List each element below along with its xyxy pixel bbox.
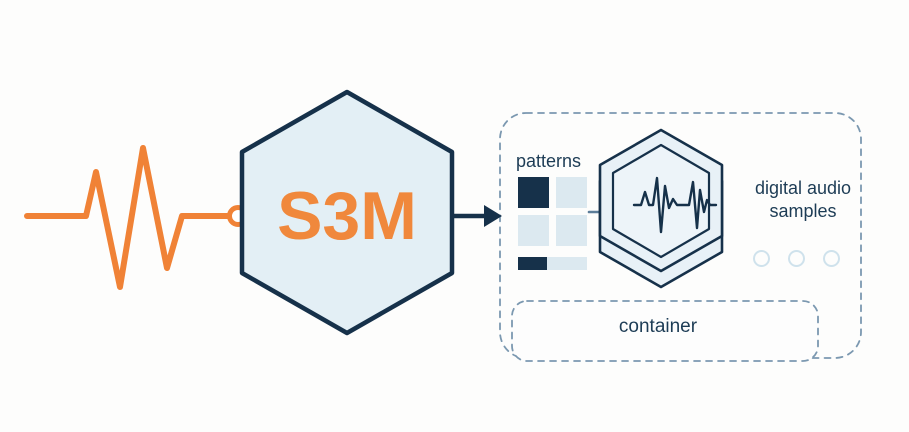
sample-dot-icon [788, 250, 805, 267]
pattern-cell-empty [556, 215, 587, 246]
container-label: container [514, 315, 802, 339]
pattern-cell-empty [556, 177, 587, 208]
s3m-node-label: S3M [238, 180, 456, 252]
text-layer: S3M patterns digital audio samples conta… [0, 0, 909, 432]
patterns-label: patterns [516, 150, 581, 172]
pattern-cell-empty [518, 215, 549, 246]
pattern-progress-track [518, 257, 587, 270]
patterns-grid [518, 177, 592, 269]
digital-audio-samples-label: digital audio samples [740, 177, 866, 223]
sample-dot-icon [823, 250, 840, 267]
sample-dots-group [748, 250, 858, 274]
sample-dot-icon [753, 250, 770, 267]
pattern-cell-filled [518, 177, 549, 208]
pattern-progress-fill [518, 257, 547, 270]
